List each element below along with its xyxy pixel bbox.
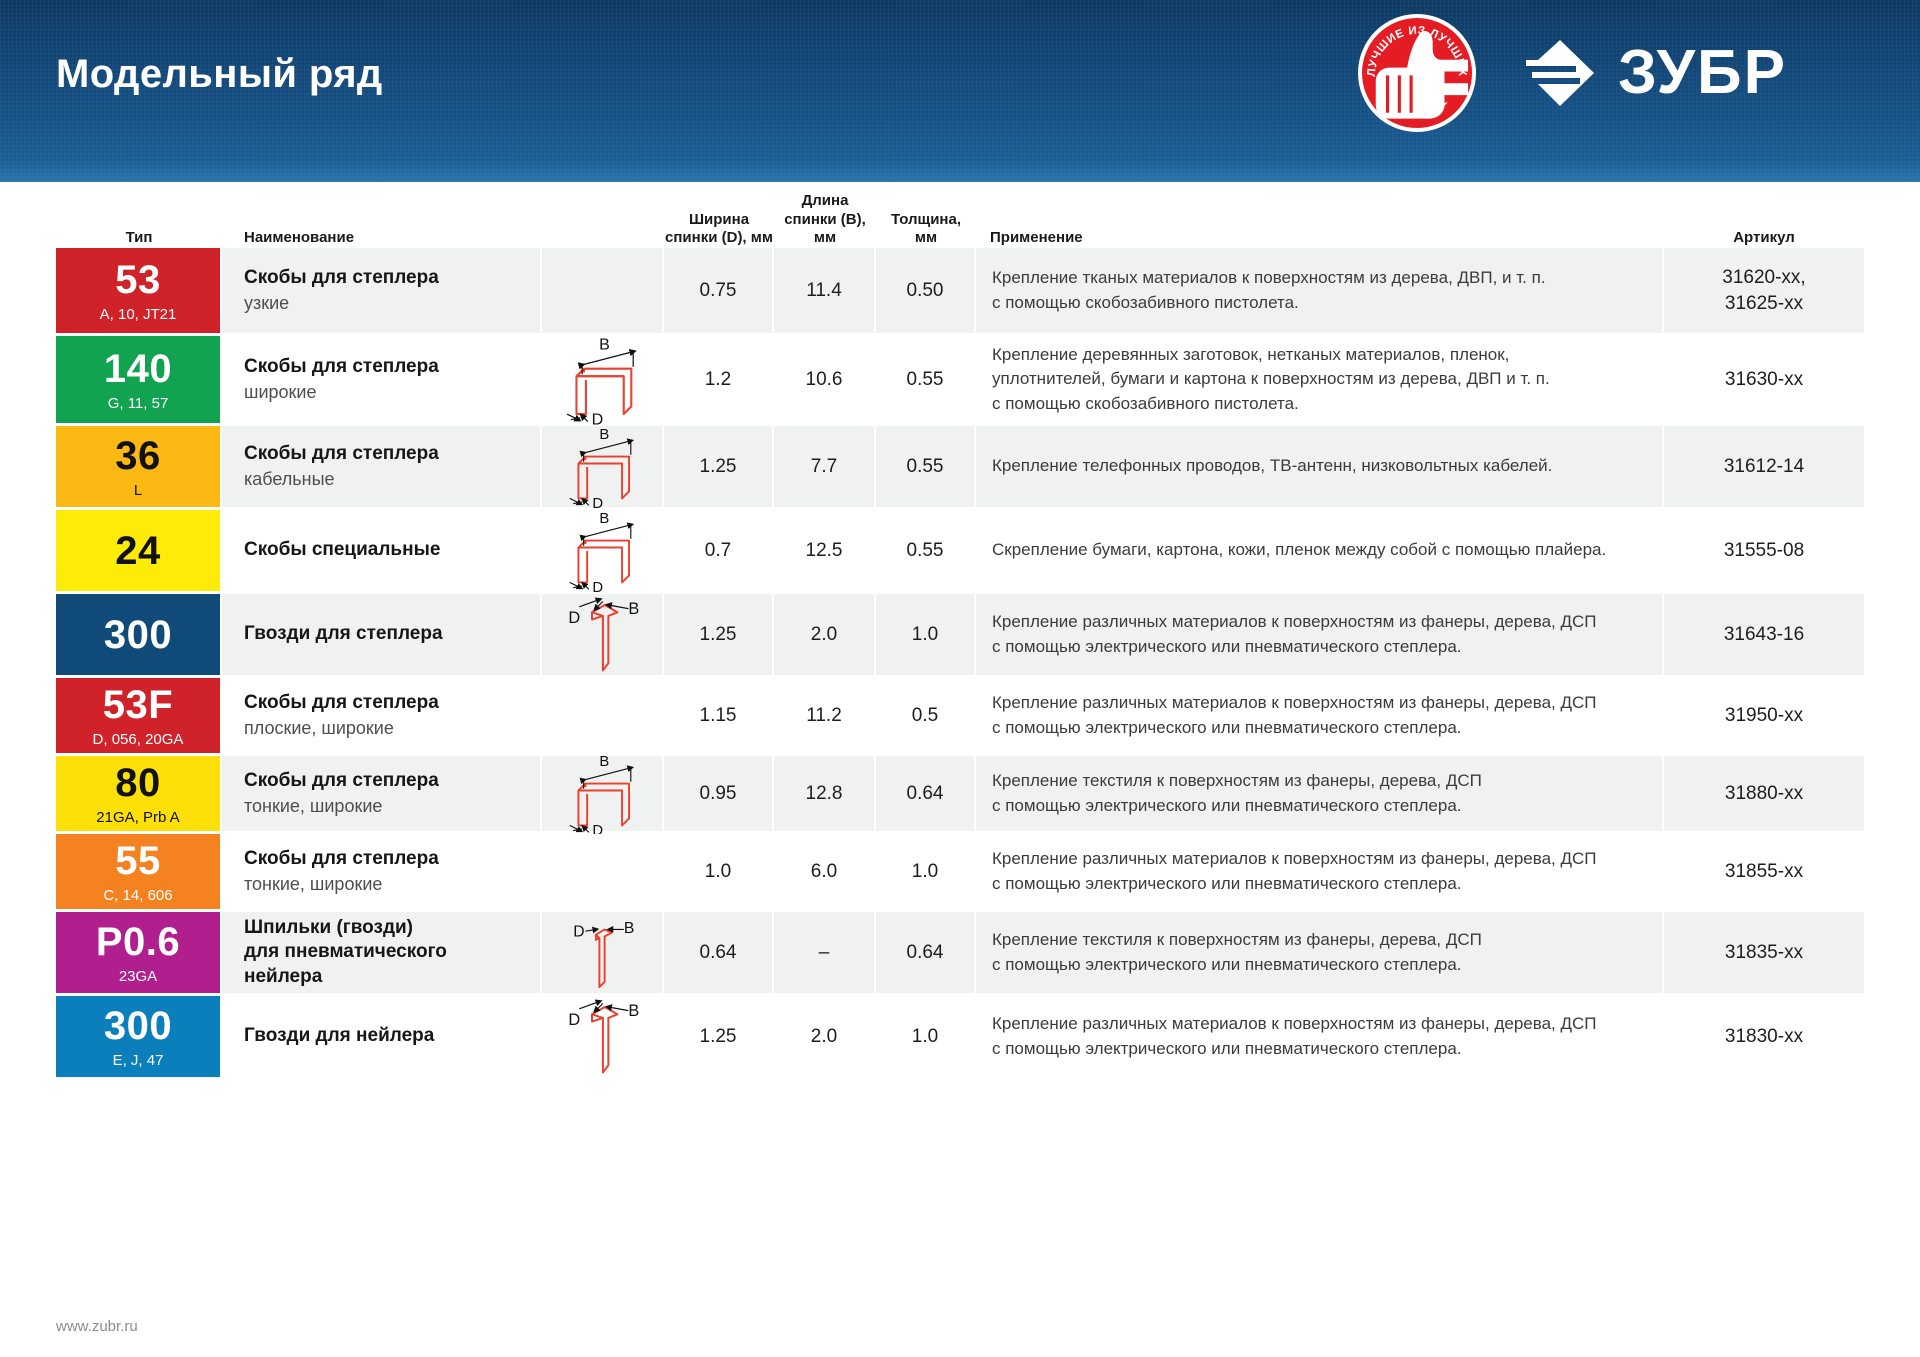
cell-name: Скобы для степлера плоские, широкие bbox=[222, 678, 542, 753]
cell-type: 53 A, 10, JT21 bbox=[56, 248, 222, 333]
product-name: Скобы специальные bbox=[244, 538, 440, 562]
cell-application: Крепление различных материалов к поверхн… bbox=[976, 594, 1664, 675]
svg-text:B: B bbox=[599, 427, 609, 443]
cell-application: Крепление деревянных заготовок, нетканых… bbox=[976, 336, 1664, 423]
cell-application: Крепление телефонных проводов, ТВ-антенн… bbox=[976, 426, 1664, 507]
col-header-width-d-line1: Ширина bbox=[664, 211, 774, 230]
zubr-logo: ЗУБР bbox=[1520, 38, 1787, 108]
page-title: Модельный ряд bbox=[56, 52, 383, 97]
type-subcode: G, 11, 57 bbox=[108, 396, 169, 411]
table-row[interactable]: 300 Гвозди для степлера D B 1.25 2.0 1.0 bbox=[56, 594, 1864, 678]
cell-article: 31643-16 bbox=[1664, 594, 1864, 675]
product-name: Скобы для степлера bbox=[244, 355, 439, 379]
cell-diagram bbox=[542, 678, 664, 753]
cell-width-d: 1.15 bbox=[664, 678, 774, 753]
nail-diagram-icon: D B bbox=[552, 585, 652, 685]
col-header-application: Применение bbox=[976, 229, 1664, 248]
cell-diagram: B D bbox=[542, 336, 664, 423]
cell-thickness: 0.55 bbox=[876, 336, 976, 423]
staple-diagram-icon: B D bbox=[554, 748, 650, 840]
cell-application: Скрепление бумаги, картона, кожи, пленок… bbox=[976, 510, 1664, 591]
cell-length-b: 7.7 bbox=[774, 426, 876, 507]
cell-type: 53F D, 056, 20GA bbox=[56, 678, 222, 753]
type-number: 300 bbox=[104, 615, 172, 655]
cell-width-d: 1.0 bbox=[664, 834, 774, 909]
svg-text:B: B bbox=[628, 1002, 639, 1020]
product-name: Скобы для степлера bbox=[244, 769, 439, 793]
type-badge: 53 A, 10, JT21 bbox=[56, 248, 220, 333]
product-name: Шпильки (гвозди)для пневматическогонейле… bbox=[244, 916, 447, 989]
cell-article: 31612-14 bbox=[1664, 426, 1864, 507]
cell-article: 31950-xx bbox=[1664, 678, 1864, 753]
type-number: 53F bbox=[103, 685, 173, 725]
cell-length-b: 2.0 bbox=[774, 996, 876, 1077]
cell-article: 31620-xx, 31625-xx bbox=[1664, 248, 1864, 333]
cell-thickness: 1.0 bbox=[876, 834, 976, 909]
type-number: 24 bbox=[115, 531, 161, 571]
cell-name: Шпильки (гвозди)для пневматическогонейле… bbox=[222, 912, 542, 993]
col-header-type: Тип bbox=[56, 229, 222, 248]
product-name: Скобы для степлера bbox=[244, 847, 439, 871]
table-row[interactable]: 80 21GA, Prb A Скобы для степлера тонкие… bbox=[56, 756, 1864, 834]
col-header-thickness: Толщина, мм bbox=[876, 211, 976, 249]
type-subcode: 21GA, Prb A bbox=[96, 810, 179, 825]
table-row[interactable]: 53 A, 10, JT21 Скобы для степлера узкие … bbox=[56, 248, 1864, 336]
cell-type: 36 L bbox=[56, 426, 222, 507]
cell-type: 300 E, J, 47 bbox=[56, 996, 222, 1077]
col-header-article: Артикул bbox=[1664, 229, 1864, 248]
cell-thickness: 1.0 bbox=[876, 996, 976, 1077]
cell-name: Скобы для степлера тонкие, широкие bbox=[222, 756, 542, 831]
product-name: Скобы для степлера bbox=[244, 691, 439, 715]
type-number: 36 bbox=[115, 436, 161, 476]
cell-type: 24 bbox=[56, 510, 222, 591]
cell-name: Скобы специальные bbox=[222, 510, 542, 591]
col-header-width-d: Ширина спинки (D), мм bbox=[664, 211, 774, 249]
type-badge: 300 bbox=[56, 594, 220, 675]
cell-width-d: 1.25 bbox=[664, 996, 774, 1077]
best-of-best-badge: ЛУЧШИЕ ИЗ ЛУЧШИХ МАРКА №1 bbox=[1358, 14, 1476, 132]
cell-width-d: 0.7 bbox=[664, 510, 774, 591]
type-number: 80 bbox=[115, 763, 161, 803]
table-row[interactable]: P0.6 23GA Шпильки (гвозди)для пневматиче… bbox=[56, 912, 1864, 996]
table-header-row: Тип Наименование Ширина спинки (D), мм Д… bbox=[56, 182, 1864, 248]
cell-width-d: 1.25 bbox=[664, 594, 774, 675]
svg-text:B: B bbox=[628, 600, 639, 618]
col-header-length-b-line2: спинки (B), мм bbox=[774, 211, 876, 249]
footer-url: www.zubr.ru bbox=[56, 1318, 138, 1335]
type-badge: 55 C, 14, 606 bbox=[56, 834, 220, 909]
cell-thickness: 0.50 bbox=[876, 248, 976, 333]
table-row[interactable]: 55 C, 14, 606 Скобы для степлера тонкие,… bbox=[56, 834, 1864, 912]
product-name: Скобы для степлера bbox=[244, 266, 439, 290]
type-badge: 36 L bbox=[56, 426, 220, 507]
cell-type: 140 G, 11, 57 bbox=[56, 336, 222, 423]
type-subcode: 23GA bbox=[119, 969, 157, 984]
model-range-table: Тип Наименование Ширина спинки (D), мм Д… bbox=[0, 182, 1920, 1080]
staple-diagram-icon: B D bbox=[550, 332, 654, 428]
type-subcode: D, 056, 20GA bbox=[93, 732, 184, 747]
cell-article: 31880-xx bbox=[1664, 756, 1864, 831]
col-header-thickness-line2: мм bbox=[876, 229, 976, 248]
product-name-sub: тонкие, широкие bbox=[244, 873, 382, 896]
cell-thickness: 0.64 bbox=[876, 756, 976, 831]
cell-thickness: 0.55 bbox=[876, 426, 976, 507]
type-number: P0.6 bbox=[96, 922, 180, 962]
type-number: 140 bbox=[104, 349, 172, 389]
cell-application: Крепление различных материалов к поверхн… bbox=[976, 996, 1664, 1077]
table-row[interactable]: 140 G, 11, 57 Скобы для степлера широкие… bbox=[56, 336, 1864, 426]
type-badge: P0.6 23GA bbox=[56, 912, 220, 993]
type-subcode: E, J, 47 bbox=[113, 1053, 164, 1068]
cell-application: Крепление текстиля к поверхностям из фан… bbox=[976, 912, 1664, 993]
col-header-length-b-line1: Длина bbox=[774, 192, 876, 211]
type-badge: 80 21GA, Prb A bbox=[56, 756, 220, 831]
cell-length-b: 12.8 bbox=[774, 756, 876, 831]
cell-article: 31855-xx bbox=[1664, 834, 1864, 909]
type-subcode: A, 10, JT21 bbox=[100, 307, 177, 322]
thumbs-up-icon bbox=[1362, 22, 1472, 132]
cell-diagram: D B bbox=[542, 594, 664, 675]
cell-length-b: 2.0 bbox=[774, 594, 876, 675]
cell-type: 55 C, 14, 606 bbox=[56, 834, 222, 909]
type-badge: 300 E, J, 47 bbox=[56, 996, 220, 1077]
cell-name: Гвозди для нейлера bbox=[222, 996, 542, 1077]
cell-width-d: 1.25 bbox=[664, 426, 774, 507]
product-name-sub: узкие bbox=[244, 292, 289, 315]
cell-type: P0.6 23GA bbox=[56, 912, 222, 993]
model-range-page: Модельный ряд ЛУЧШИЕ ИЗ ЛУЧШИХ МАРКА №1 bbox=[0, 0, 1920, 1357]
cell-thickness: 0.64 bbox=[876, 912, 976, 993]
svg-text:D: D bbox=[573, 923, 584, 940]
cell-application: Крепление различных материалов к поверхн… bbox=[976, 678, 1664, 753]
cell-width-d: 1.2 bbox=[664, 336, 774, 423]
cell-name: Скобы для степлера кабельные bbox=[222, 426, 542, 507]
cell-name: Скобы для степлера узкие bbox=[222, 248, 542, 333]
zubr-emblem-icon bbox=[1520, 38, 1596, 108]
cell-diagram: B D bbox=[542, 756, 664, 831]
cell-article: 31830-xx bbox=[1664, 996, 1864, 1077]
type-badge: 24 bbox=[56, 510, 220, 591]
type-subcode: L bbox=[134, 483, 142, 498]
product-name: Гвозди для нейлера bbox=[244, 1024, 434, 1048]
cell-application: Крепление различных материалов к поверхн… bbox=[976, 834, 1664, 909]
product-name-sub: плоские, широкие bbox=[244, 717, 394, 740]
cell-diagram: D B bbox=[542, 996, 664, 1077]
col-header-width-d-line2: спинки (D), мм bbox=[664, 229, 774, 248]
type-subcode: C, 14, 606 bbox=[103, 888, 172, 903]
col-header-name: Наименование bbox=[222, 229, 542, 248]
product-name-sub: широкие bbox=[244, 381, 316, 404]
svg-text:D: D bbox=[568, 1011, 580, 1029]
cell-thickness: 0.5 bbox=[876, 678, 976, 753]
cell-width-d: 0.75 bbox=[664, 248, 774, 333]
table-body: 53 A, 10, JT21 Скобы для степлера узкие … bbox=[56, 248, 1864, 1080]
type-badge: 140 G, 11, 57 bbox=[56, 336, 220, 423]
svg-text:B: B bbox=[599, 335, 610, 353]
cell-width-d: 0.64 bbox=[664, 912, 774, 993]
zubr-wordmark: ЗУБР bbox=[1618, 42, 1787, 104]
cell-article: 31630-xx bbox=[1664, 336, 1864, 423]
cell-application: Крепление текстиля к поверхностям из фан… bbox=[976, 756, 1664, 831]
cell-type: 300 bbox=[56, 594, 222, 675]
type-number: 55 bbox=[115, 841, 161, 881]
cell-width-d: 0.95 bbox=[664, 756, 774, 831]
cell-diagram: D B bbox=[542, 912, 664, 993]
col-header-length-b: Длина спинки (B), мм bbox=[774, 192, 876, 248]
cell-diagram: B D bbox=[542, 426, 664, 507]
staple-diagram-icon: B D bbox=[554, 421, 650, 513]
cell-diagram: B D bbox=[542, 510, 664, 591]
svg-text:D: D bbox=[568, 609, 580, 627]
cell-length-b: 6.0 bbox=[774, 834, 876, 909]
cell-article: 31835-xx bbox=[1664, 912, 1864, 993]
cell-length-b: – bbox=[774, 912, 876, 993]
staple-diagram-icon: B D bbox=[554, 505, 650, 597]
cell-type: 80 21GA, Prb A bbox=[56, 756, 222, 831]
table-row[interactable]: 36 L Скобы для степлера кабельные B D bbox=[56, 426, 1864, 510]
cell-length-b: 12.5 bbox=[774, 510, 876, 591]
svg-text:B: B bbox=[599, 511, 609, 527]
nail-diagram-icon: D B bbox=[552, 987, 652, 1087]
svg-text:B: B bbox=[599, 754, 609, 770]
cell-thickness: 0.55 bbox=[876, 510, 976, 591]
cell-length-b: 11.2 bbox=[774, 678, 876, 753]
table-row[interactable]: 53F D, 056, 20GA Скобы для степлера плос… bbox=[56, 678, 1864, 756]
product-name-sub: кабельные bbox=[244, 468, 335, 491]
cell-article: 31555-08 bbox=[1664, 510, 1864, 591]
cell-length-b: 10.6 bbox=[774, 336, 876, 423]
product-name: Скобы для степлера bbox=[244, 442, 439, 466]
product-name: Гвозди для степлера bbox=[244, 622, 443, 646]
cell-name: Скобы для степлера широкие bbox=[222, 336, 542, 423]
cell-diagram bbox=[542, 248, 664, 333]
type-number: 53 bbox=[115, 260, 161, 300]
table-row[interactable]: 300 E, J, 47 Гвозди для нейлера D B 1.25… bbox=[56, 996, 1864, 1080]
cell-application: Крепление тканых материалов к поверхност… bbox=[976, 248, 1664, 333]
cell-diagram bbox=[542, 834, 664, 909]
col-header-thickness-line1: Толщина, bbox=[876, 211, 976, 230]
cell-thickness: 1.0 bbox=[876, 594, 976, 675]
product-name-sub: тонкие, широкие bbox=[244, 795, 382, 818]
type-badge: 53F D, 056, 20GA bbox=[56, 678, 220, 753]
cell-length-b: 11.4 bbox=[774, 248, 876, 333]
svg-text:B: B bbox=[624, 919, 634, 936]
cell-name: Гвозди для степлера bbox=[222, 594, 542, 675]
table-row[interactable]: 24 Скобы специальные B D bbox=[56, 510, 1864, 594]
cell-name: Скобы для степлера тонкие, широкие bbox=[222, 834, 542, 909]
page-header: Модельный ряд ЛУЧШИЕ ИЗ ЛУЧШИХ МАРКА №1 bbox=[0, 0, 1920, 182]
type-number: 300 bbox=[104, 1006, 172, 1046]
